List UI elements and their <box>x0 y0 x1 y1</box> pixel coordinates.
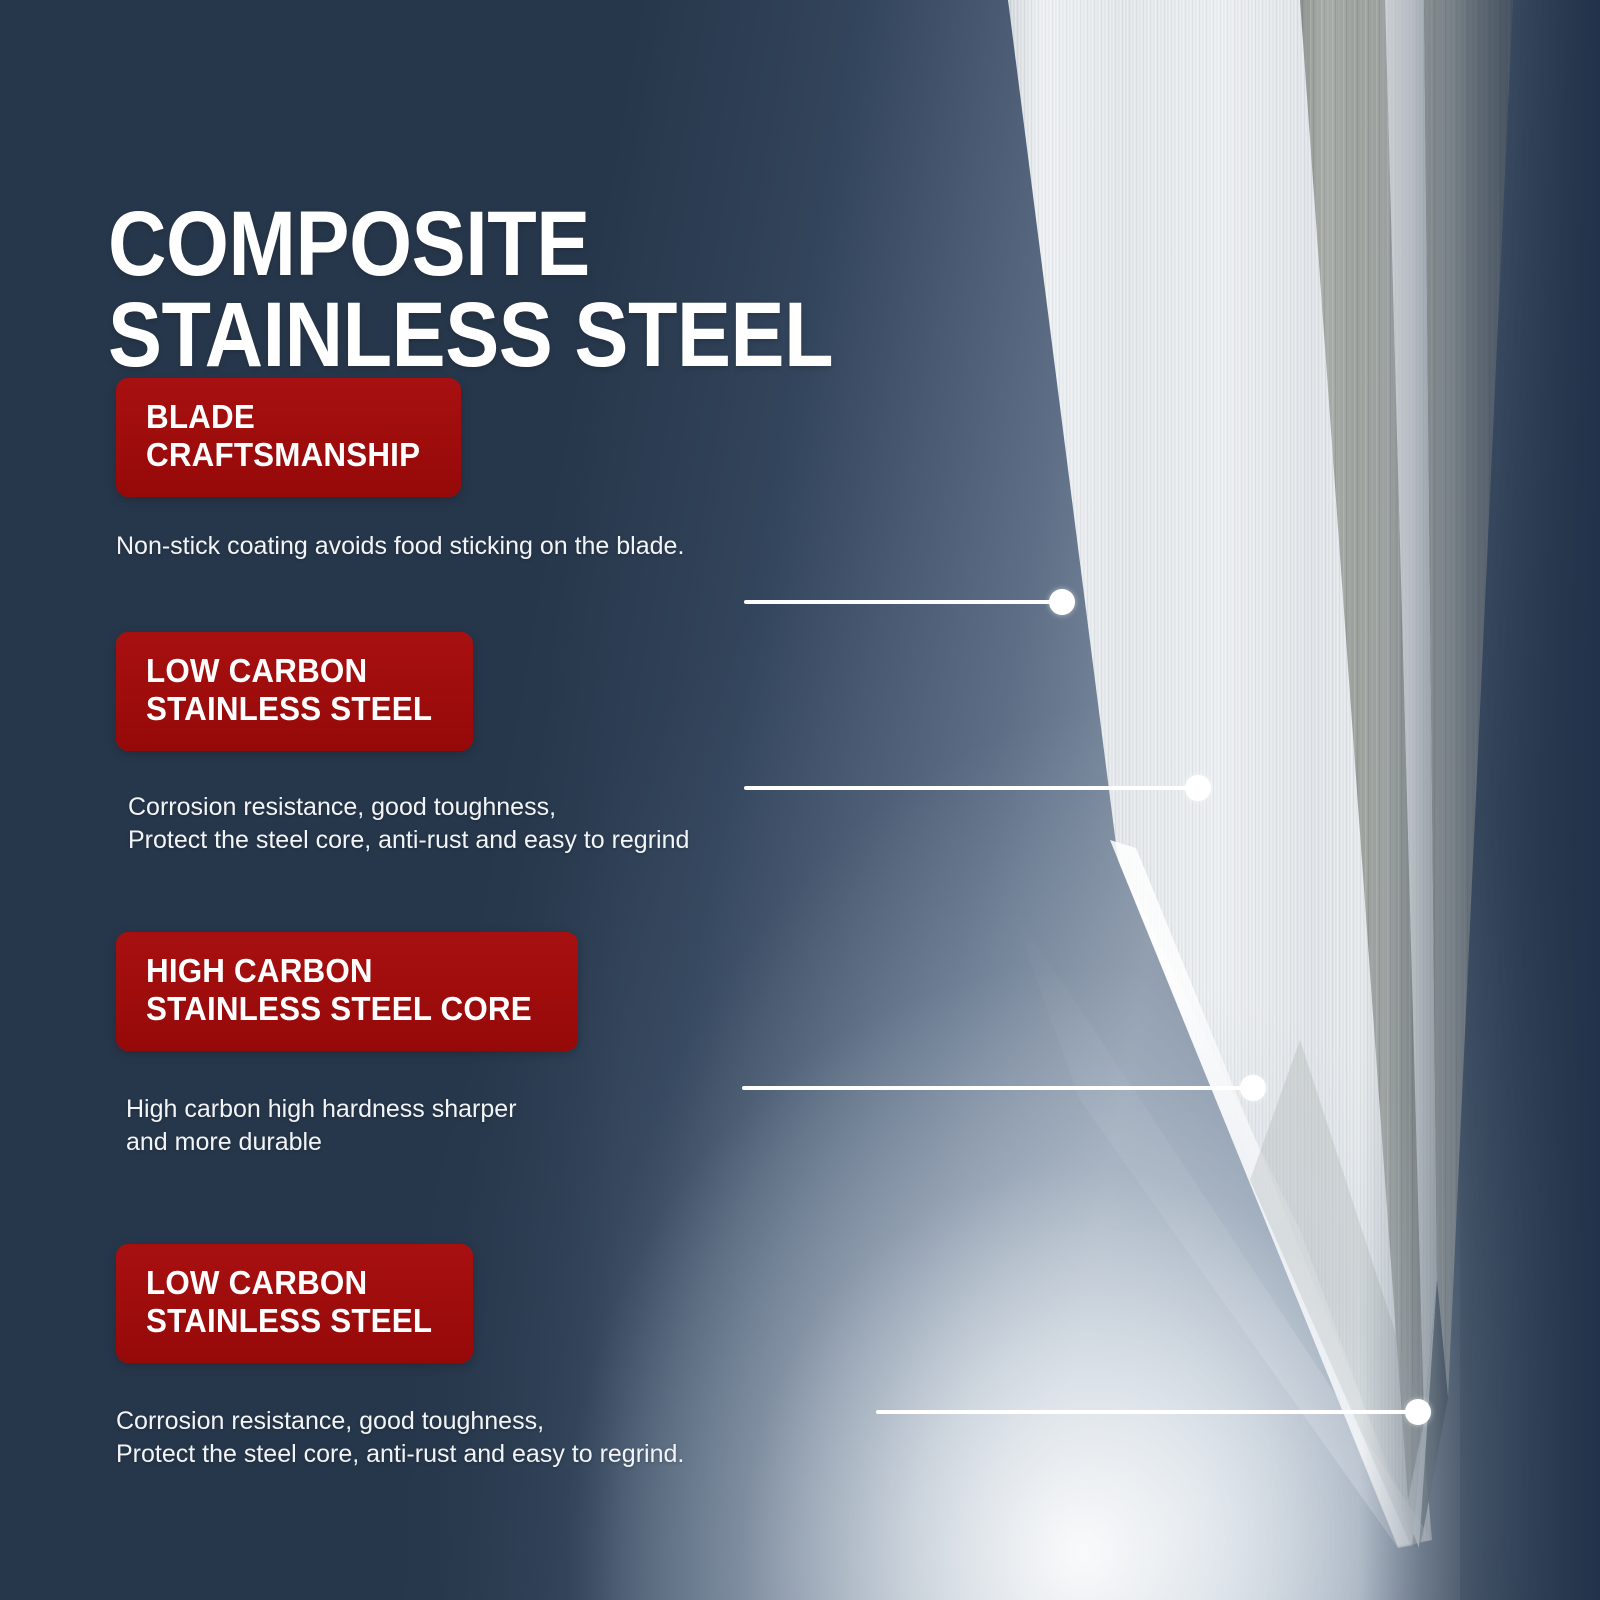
infographic-canvas: COMPOSITE STAINLESS STEEL BLADE CRAFTSMA… <box>0 0 1600 1600</box>
feature-block-blade-craftsmanship: BLADE CRAFTSMANSHIP Non-stick coating av… <box>116 378 684 563</box>
leader-dot-2 <box>1185 775 1211 801</box>
feature-block-low-carbon-stainless-steel-top: LOW CARBON STAINLESS STEEL Corrosion res… <box>116 632 689 857</box>
title-line-2: STAINLESS STEEL <box>108 290 833 381</box>
badge-low-carbon-stainless-steel-bottom: LOW CARBON STAINLESS STEEL <box>116 1244 473 1363</box>
right-edge-fade <box>1360 0 1600 1600</box>
leader-dot-3 <box>1240 1075 1266 1101</box>
leader-line-2 <box>744 786 1194 790</box>
badge-low-carbon-stainless-steel-top: LOW CARBON STAINLESS STEEL <box>116 632 473 751</box>
leader-line-4 <box>876 1410 1424 1414</box>
badge-label: LOW CARBON STAINLESS STEEL <box>146 1264 432 1341</box>
leader-dot-4 <box>1405 1399 1431 1425</box>
badge-blade-craftsmanship: BLADE CRAFTSMANSHIP <box>116 378 461 497</box>
leader-line-1 <box>744 600 1074 604</box>
title-line-1: COMPOSITE <box>108 193 590 295</box>
badge-label: HIGH CARBON STAINLESS STEEL CORE <box>146 952 532 1029</box>
feature-block-high-carbon-stainless-steel-core: HIGH CARBON STAINLESS STEEL CORE High ca… <box>116 932 578 1159</box>
badge-label: BLADE CRAFTSMANSHIP <box>146 398 420 475</box>
feature-description: Corrosion resistance, good toughness, Pr… <box>128 791 689 857</box>
feature-description: Non-stick coating avoids food sticking o… <box>116 530 684 563</box>
feature-description: High carbon high hardness sharper and mo… <box>126 1093 578 1159</box>
leader-line-3 <box>742 1086 1252 1090</box>
feature-description: Corrosion resistance, good toughness, Pr… <box>116 1405 684 1471</box>
feature-block-low-carbon-stainless-steel-bottom: LOW CARBON STAINLESS STEEL Corrosion res… <box>116 1244 684 1471</box>
badge-label: LOW CARBON STAINLESS STEEL <box>146 652 432 729</box>
badge-high-carbon-stainless-steel-core: HIGH CARBON STAINLESS STEEL CORE <box>116 932 578 1051</box>
leader-dot-1 <box>1049 589 1075 615</box>
